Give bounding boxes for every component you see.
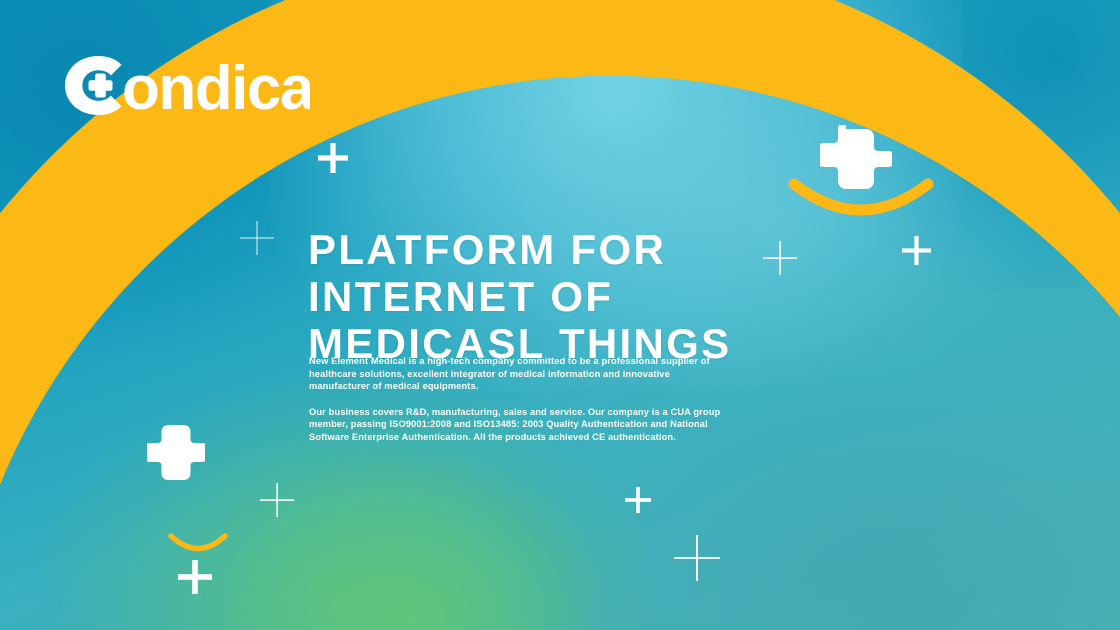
headline-line-1: PLATFORM FOR (308, 226, 778, 273)
plus-icon-bottom-left (178, 560, 212, 594)
logo-mark: ondical (62, 52, 310, 130)
smile-icon-top-right (788, 178, 934, 226)
description-paragraph-1: New Element Medical is a high-tech compa… (309, 355, 729, 393)
plus-icon-bottom-wide (674, 535, 720, 581)
plus-icon-right-bold (902, 236, 931, 265)
plus-icon-headline-top (318, 143, 348, 173)
slide-canvas: ondical (0, 0, 1120, 630)
medical-cross-in-c-logo (65, 56, 122, 115)
hero-description: New Element Medical is a high-tech compa… (309, 355, 729, 444)
headline-line-2: INTERNET OF (308, 273, 778, 320)
plus-icon-bottom-center (625, 487, 651, 513)
background-glow-green-core (224, 454, 605, 630)
smile-icon-bottom-left (167, 532, 229, 560)
description-paragraph-2: Our business covers R&D, manufacturing, … (309, 406, 729, 444)
brand-logo[interactable]: ondical (62, 52, 310, 130)
hero-headline: PLATFORM FOR INTERNET OF MEDICASL THINGS (308, 226, 778, 367)
plus-icon-headline-left (240, 221, 274, 255)
plus-icon-mid-left (260, 483, 294, 517)
logo-wordmark: ondical (122, 54, 310, 123)
cross-icon-bottom-left (147, 422, 205, 480)
